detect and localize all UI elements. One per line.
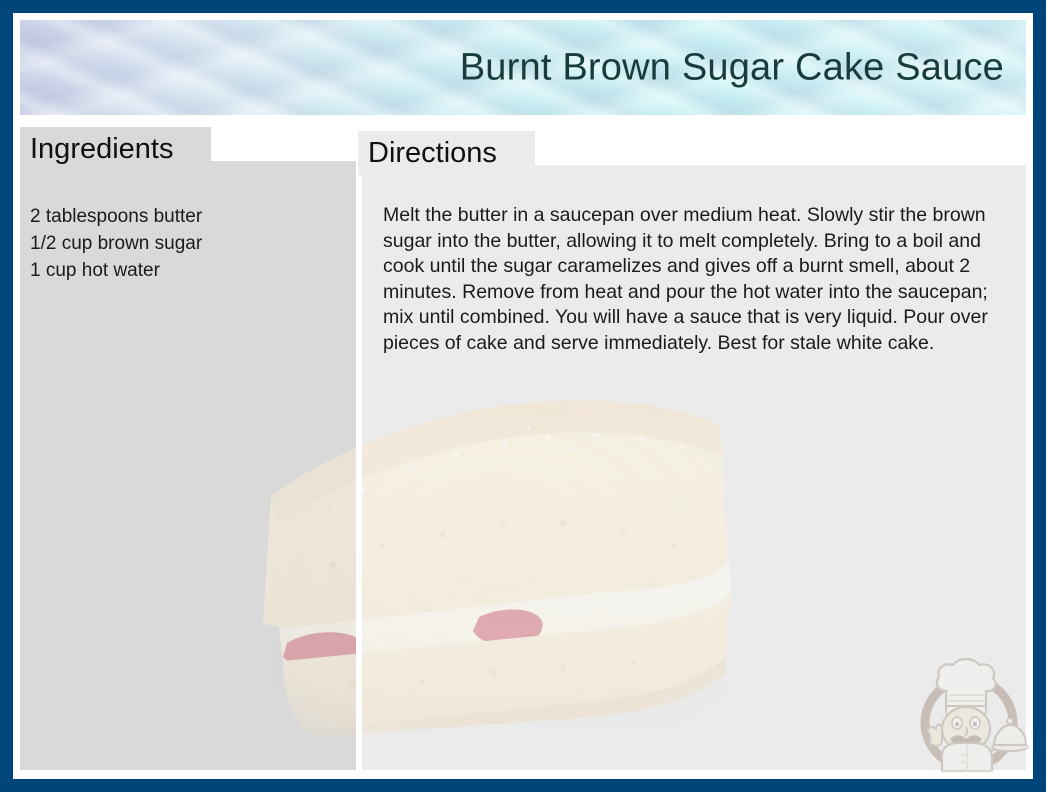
recipe-card: Burnt Brown Sugar Cake Sauce 2 tablespoo…	[0, 0, 1046, 792]
list-item: 1 cup hot water	[30, 257, 348, 284]
page-title: Burnt Brown Sugar Cake Sauce	[460, 46, 1004, 89]
directions-panel: Melt the butter in a saucepan over mediu…	[362, 165, 1026, 770]
list-item: 1/2 cup brown sugar	[30, 230, 348, 257]
directions-heading: Directions	[358, 131, 535, 175]
column-divider	[356, 123, 362, 775]
card-sheet: Burnt Brown Sugar Cake Sauce 2 tablespoo…	[13, 13, 1033, 779]
list-item: 2 tablespoons butter	[30, 203, 348, 230]
title-banner: Burnt Brown Sugar Cake Sauce	[20, 20, 1026, 115]
directions-text: Melt the butter in a saucepan over mediu…	[383, 203, 1005, 356]
ingredients-panel: 2 tablespoons butter 1/2 cup brown sugar…	[20, 161, 356, 770]
ingredients-list: 2 tablespoons butter 1/2 cup brown sugar…	[30, 203, 348, 284]
ingredients-heading: Ingredients	[20, 127, 211, 171]
